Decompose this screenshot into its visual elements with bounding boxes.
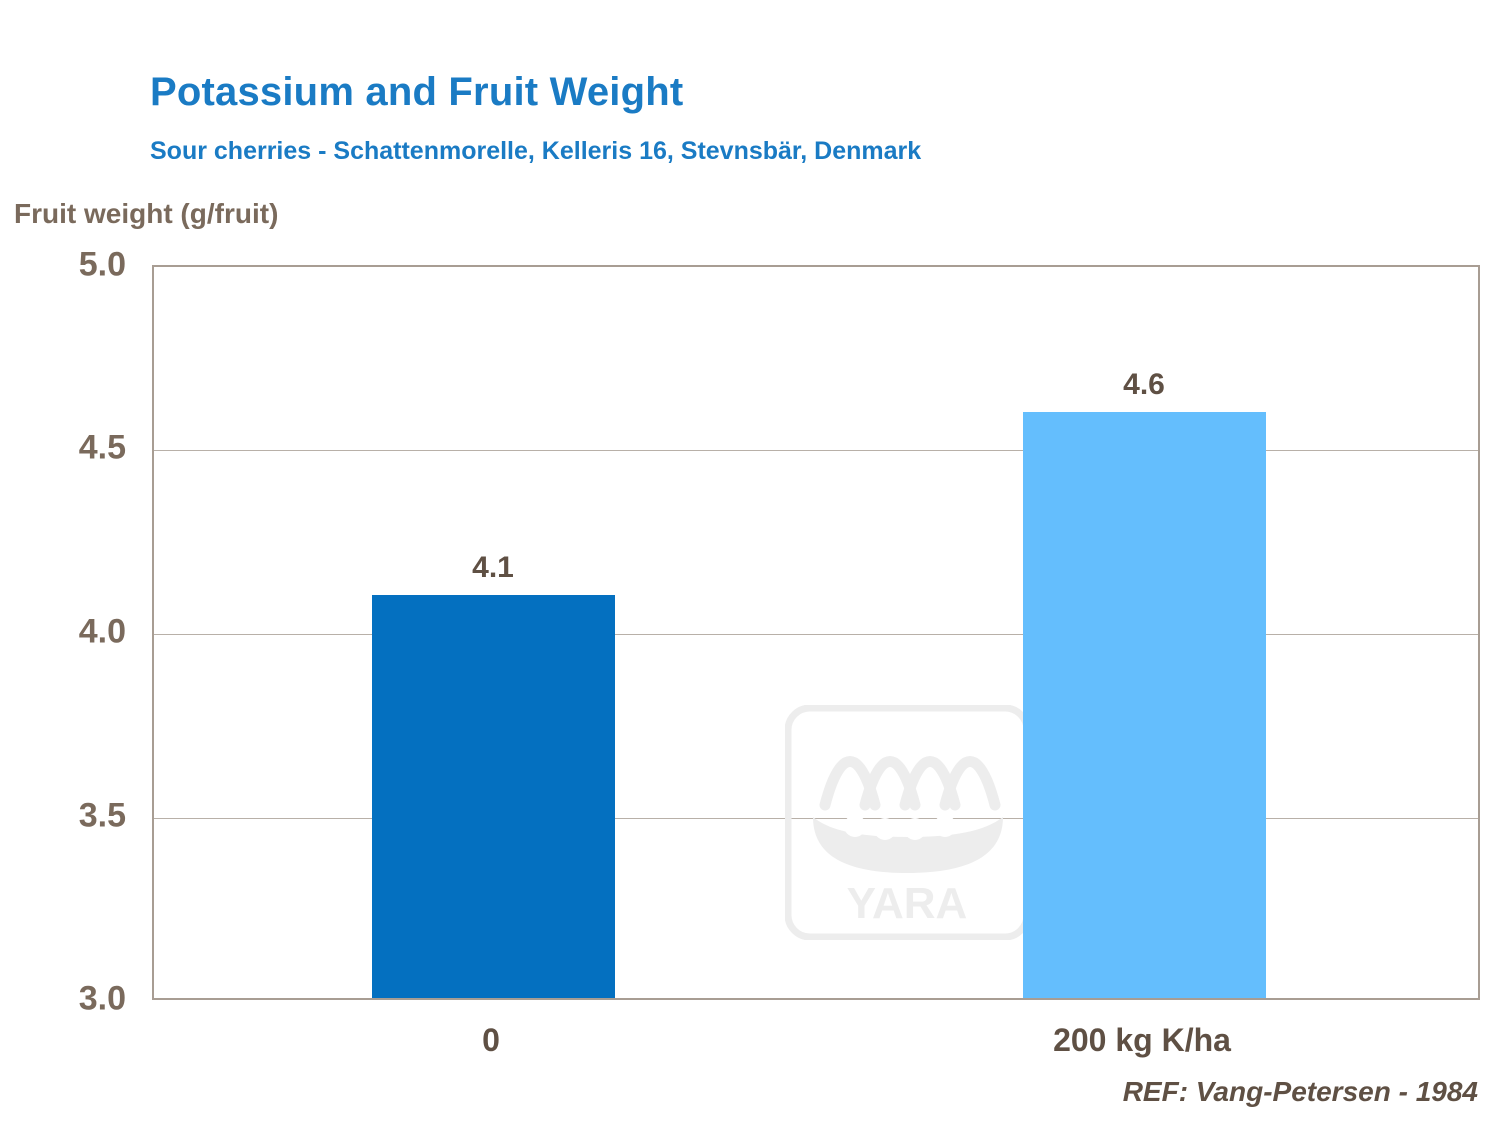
- page-subtitle: Sour cherries - Schattenmorelle, Kelleri…: [150, 137, 921, 166]
- page-title: Potassium and Fruit Weight: [150, 70, 683, 115]
- reference-note: REF: Vang-Petersen - 1984: [1123, 1076, 1478, 1108]
- y-tick-label-3: 4.0: [16, 613, 126, 652]
- chart-plot-area: YARA 4.1 4.6: [152, 265, 1480, 1000]
- y-tick-label-4: 4.5: [16, 429, 126, 468]
- yara-watermark-icon: YARA: [785, 705, 1030, 940]
- bar-category-0[interactable]: [372, 595, 615, 998]
- y-tick-label-5: 5.0: [16, 246, 126, 285]
- gridline-3.5: [154, 818, 1478, 819]
- bar-value-label-0: 4.1: [472, 551, 514, 585]
- gridline-4.0: [154, 634, 1478, 635]
- gridline-4.5: [154, 450, 1478, 451]
- y-tick-label-2: 3.5: [16, 797, 126, 836]
- y-tick-label-1: 3.0: [16, 980, 126, 1019]
- x-tick-label-1: 200 kg K/ha: [1053, 1022, 1231, 1059]
- yara-wordmark: YARA: [847, 879, 968, 928]
- bar-value-label-1: 4.6: [1123, 368, 1165, 402]
- y-axis-title: Fruit weight (g/fruit): [14, 198, 278, 230]
- x-tick-label-0: 0: [482, 1022, 500, 1059]
- bar-category-1[interactable]: [1023, 412, 1266, 998]
